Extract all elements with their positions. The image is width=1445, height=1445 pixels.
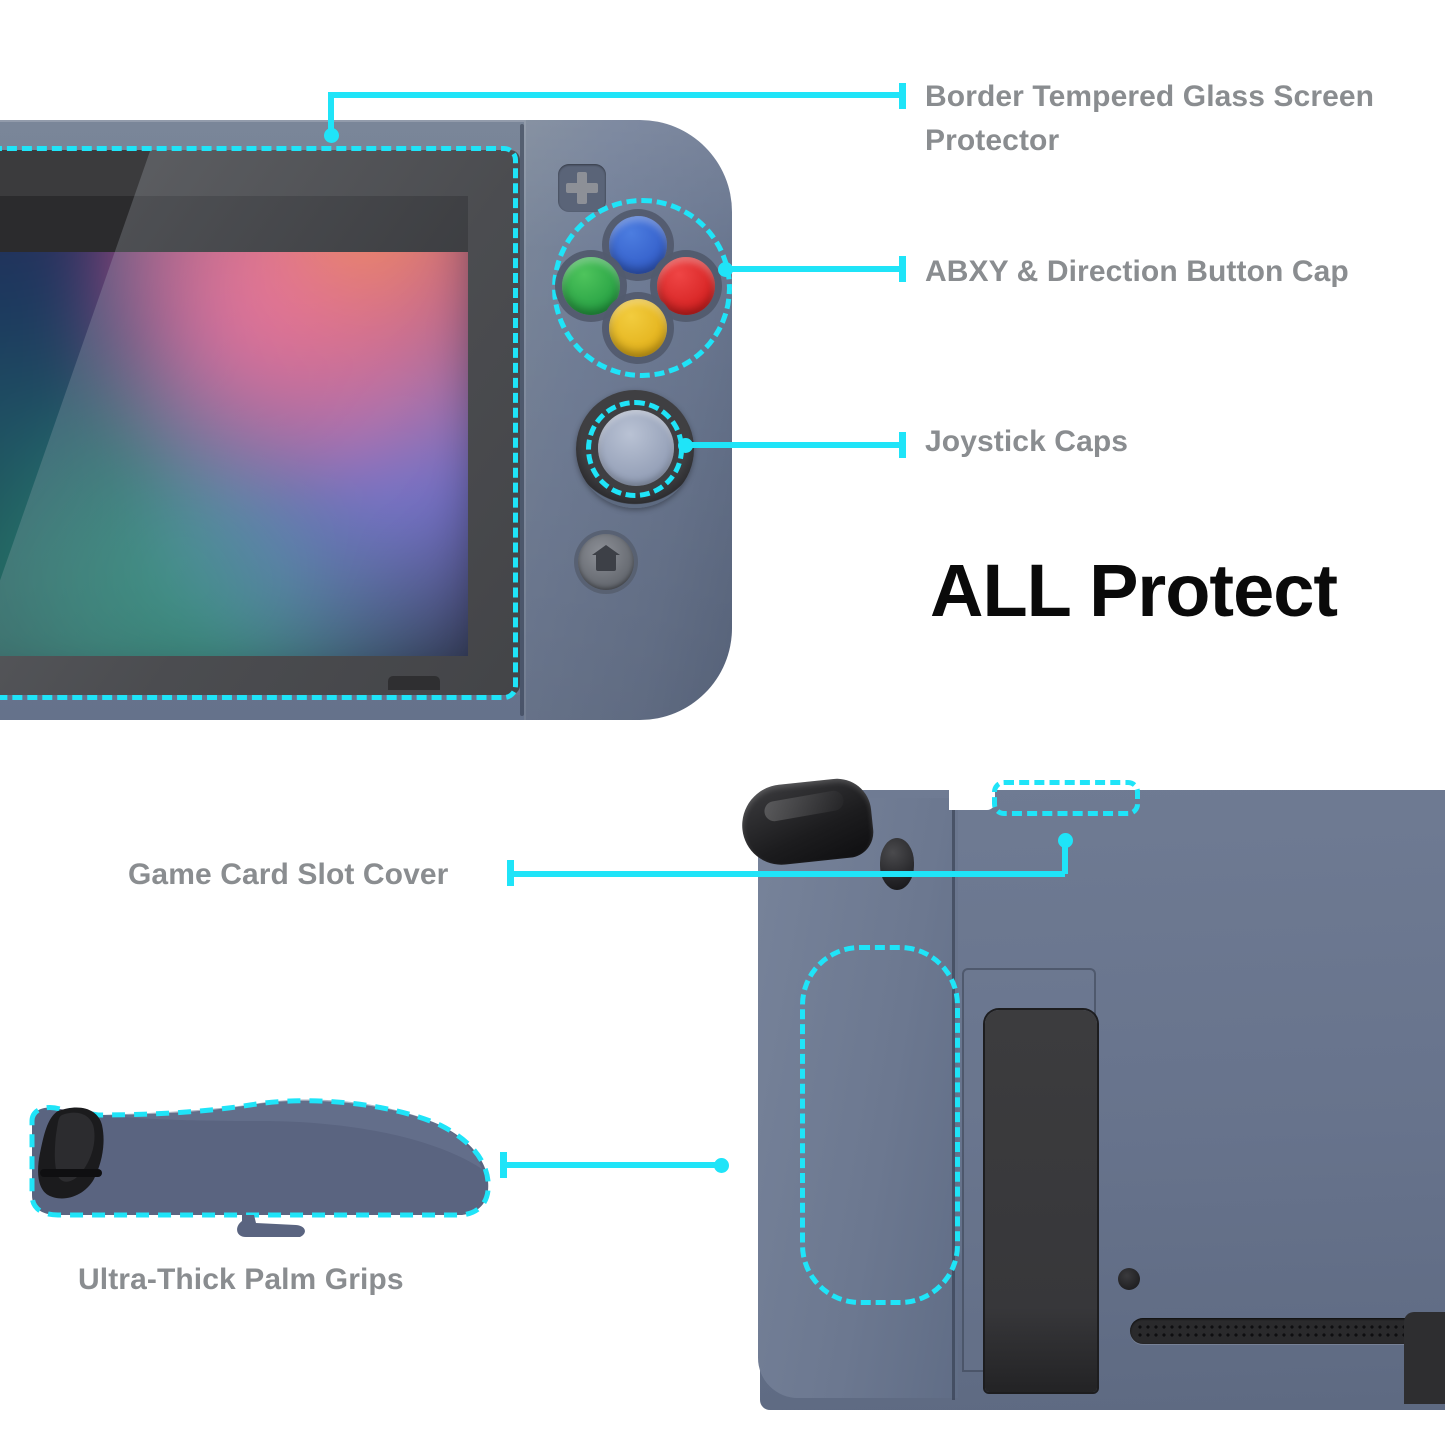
leader-segment-horizontal — [328, 92, 906, 98]
sync-button[interactable] — [880, 838, 914, 890]
usb-c-port-corner — [1404, 1312, 1445, 1404]
button-a[interactable] — [657, 257, 715, 315]
leader-tick — [899, 83, 906, 109]
home-icon — [596, 553, 616, 571]
leader-segment-horizontal — [685, 442, 905, 448]
page-title: ALL Protect — [930, 548, 1337, 633]
home-button[interactable] — [578, 534, 634, 590]
vent-perforations — [1136, 1323, 1414, 1339]
callout-label-joystick-caps: Joystick Caps — [925, 420, 1395, 464]
callout-label-button-caps: ABXY & Direction Button Cap — [925, 250, 1395, 294]
callout-label-screen-protector: Border Tempered Glass Screen Protector — [925, 75, 1395, 162]
leader-tick — [899, 432, 906, 458]
button-x[interactable] — [609, 216, 667, 274]
leader-segment-vertical — [1062, 838, 1068, 874]
rear-palm-grip-outline — [800, 945, 960, 1305]
callout-label-palm-grips: Ultra-Thick Palm Grips — [78, 1258, 508, 1302]
kickstand[interactable] — [985, 1010, 1097, 1392]
shoulder-button[interactable] — [738, 775, 876, 868]
vent-grille — [1130, 1318, 1420, 1344]
palm-grip-profile — [10, 1085, 510, 1260]
leader-tick — [899, 256, 906, 282]
headphone-port — [1118, 1268, 1140, 1290]
joystick-cap-outline — [586, 400, 684, 498]
palm-grip-tab — [237, 1215, 305, 1237]
dpad-cross-vertical — [577, 172, 587, 204]
leader-segment-vertical — [328, 95, 334, 137]
top-edge-notch — [949, 786, 995, 810]
dpad-icon[interactable] — [558, 164, 606, 212]
product-infographic: Border Tempered Glass Screen Protector A… — [0, 0, 1445, 1445]
game-card-slot — [992, 780, 1140, 816]
screen-protector-outline — [0, 146, 518, 700]
leader-segment-horizontal — [503, 1162, 721, 1168]
leader-segment-horizontal — [510, 871, 1065, 877]
profile-shoulder-seam — [40, 1169, 102, 1177]
button-y[interactable] — [562, 257, 620, 315]
joycon-seam — [520, 124, 524, 716]
callout-label-card-slot-cover: Game Card Slot Cover — [128, 853, 548, 897]
button-b[interactable] — [609, 299, 667, 357]
leader-segment-horizontal — [725, 266, 905, 272]
